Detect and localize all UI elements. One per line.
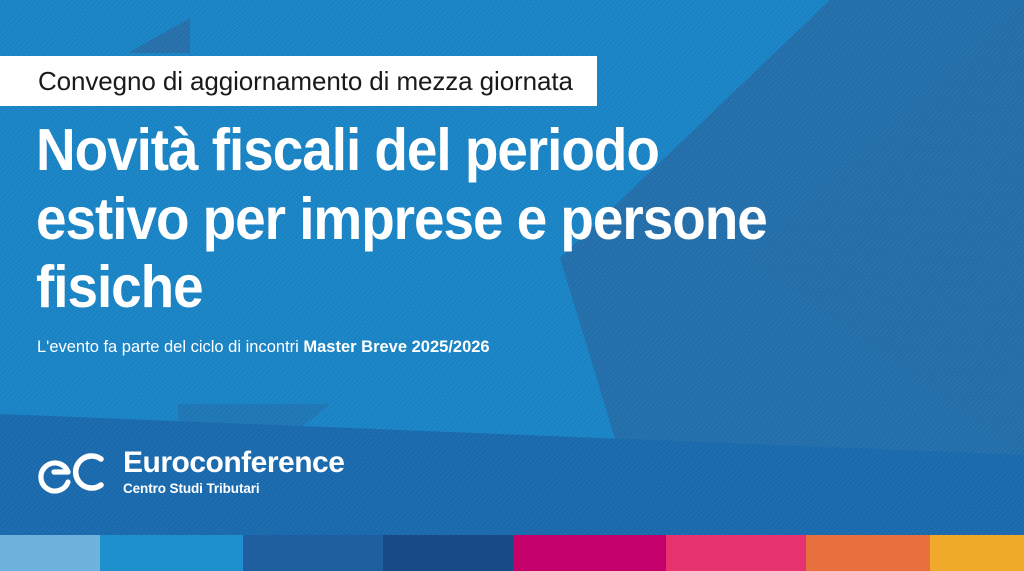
color-bar-segment-navy-blue — [383, 535, 513, 571]
kicker-badge: Convegno di aggiornamento di mezza giorn… — [0, 56, 597, 106]
color-bar-segment-medium-blue — [243, 535, 383, 571]
color-bar-segment-magenta — [513, 535, 666, 571]
logo-wordmark: Euroconference Centro Studi Tributari — [123, 448, 344, 496]
banner-content: Convegno di aggiornamento di mezza giorn… — [0, 0, 1024, 571]
event-promo-banner: Convegno di aggiornamento di mezza giorn… — [0, 0, 1024, 571]
color-bar-segment-amber — [930, 535, 1024, 571]
headline-line-2: estivo per imprese e persone — [36, 185, 901, 254]
euroconference-logo: Euroconference Centro Studi Tributari — [38, 448, 344, 496]
subtitle: L'evento fa parte del ciclo di incontri … — [37, 338, 490, 358]
headline-line-3: fisiche — [36, 253, 901, 322]
ec-monogram-icon — [38, 449, 110, 495]
page-title: Novità fiscali del periodo estivo per im… — [36, 116, 966, 322]
color-bar-segment-pink — [666, 535, 806, 571]
subtitle-prefix: L'evento fa parte del ciclo di incontri — [37, 338, 303, 356]
subtitle-series-name: Master Breve 2025/2026 — [303, 338, 489, 356]
color-bar-segment-cyan-blue — [100, 535, 243, 571]
color-bar-segment-light-blue — [0, 535, 100, 571]
headline-line-1: Novità fiscali del periodo — [36, 116, 901, 185]
kicker-text: Convegno di aggiornamento di mezza giorn… — [38, 68, 573, 94]
logo-tagline: Centro Studi Tributari — [123, 482, 344, 496]
logo-company-name: Euroconference — [123, 448, 344, 478]
brand-color-bar — [0, 535, 1024, 571]
color-bar-segment-orange — [806, 535, 930, 571]
